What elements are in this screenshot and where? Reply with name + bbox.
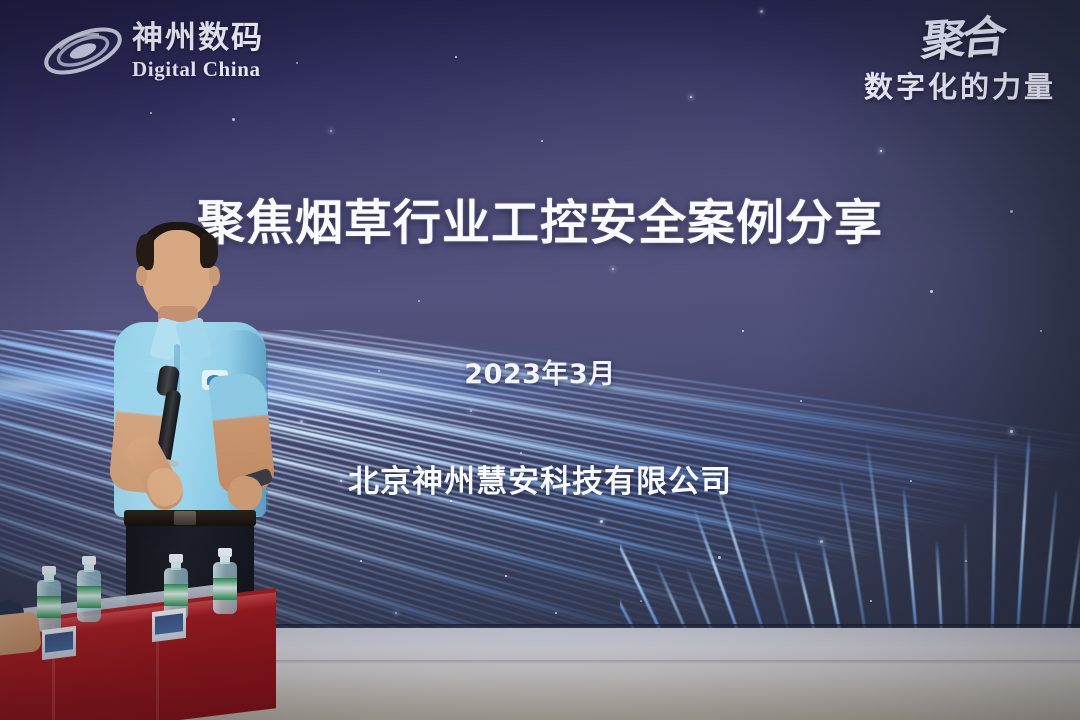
name-card [152, 608, 186, 642]
attendee-arm [0, 611, 42, 657]
event-calligraphy: 聚合 [920, 17, 1005, 62]
speaker-ear-left [136, 266, 147, 286]
speaker-figure [96, 222, 286, 642]
brand-name-cn: 神州数码 [132, 23, 264, 54]
speaker-ear-right [209, 266, 220, 286]
speaker-hair-left [136, 234, 154, 270]
event-tagline: 数字化的力量 [864, 64, 1056, 106]
tablecloth-fold [156, 630, 159, 720]
seated-attendee [0, 600, 50, 670]
bottle-label [77, 586, 101, 608]
bottle-label [164, 584, 188, 606]
speaker-belt-buckle [174, 511, 196, 525]
bottle-label [213, 578, 237, 600]
conference-stage-photo: 神州数码 Digital China 聚合 数字化的力量 聚焦烟草行业工控安全案… [0, 0, 1080, 720]
brand-name-en: Digital China [132, 59, 264, 80]
digital-china-swirl-icon [42, 18, 124, 84]
speaker-hair-right [200, 234, 218, 268]
digital-china-wordmark: 神州数码 Digital China [132, 23, 264, 80]
digital-china-logo: 神州数码 Digital China [42, 18, 264, 84]
fanning-light-lines [620, 370, 1080, 660]
event-theme-logo: 聚合 数字化的力量 [864, 20, 1056, 106]
